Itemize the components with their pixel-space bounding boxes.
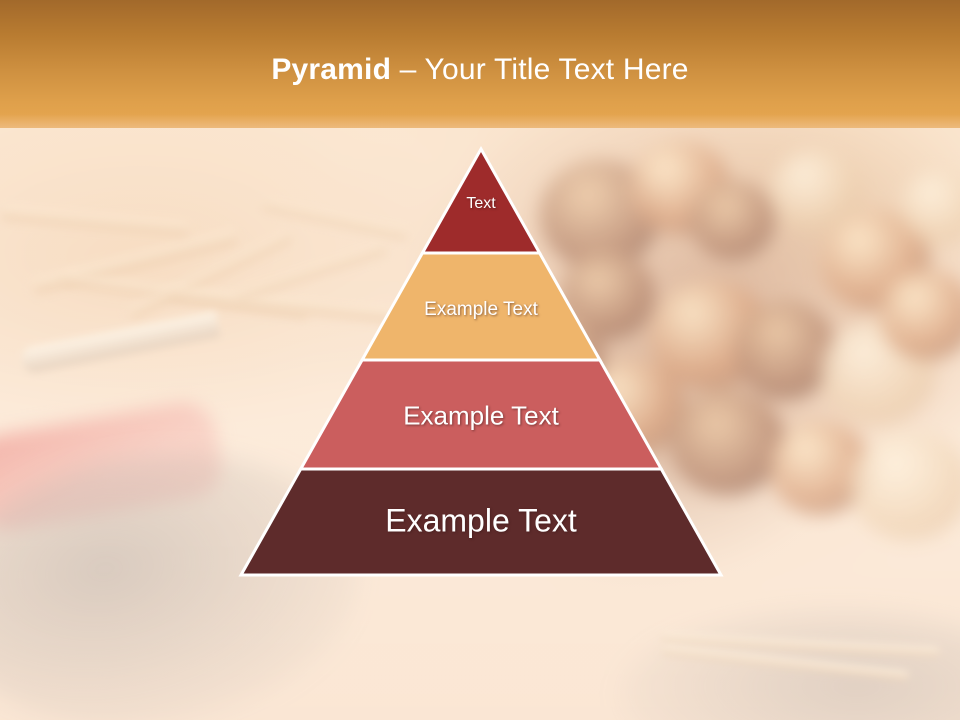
pyramid-tier-1-label: Text xyxy=(466,195,495,213)
header-bottom-fade xyxy=(0,114,960,128)
pyramid-tier-2-label: Example Text xyxy=(424,299,538,321)
pyramid-tier-4-label: Example Text xyxy=(385,503,577,540)
title-separator: – xyxy=(391,53,424,86)
title-bold-word: Pyramid xyxy=(271,53,391,86)
slide-title: Pyramid – Your Title Text Here xyxy=(0,52,960,88)
presentation-slide: Pyramid – Your Title Text Here Text Exam… xyxy=(0,0,960,720)
pyramid-tier-3-label: Example Text xyxy=(403,401,559,432)
title-rest: Your Title Text Here xyxy=(425,53,689,86)
